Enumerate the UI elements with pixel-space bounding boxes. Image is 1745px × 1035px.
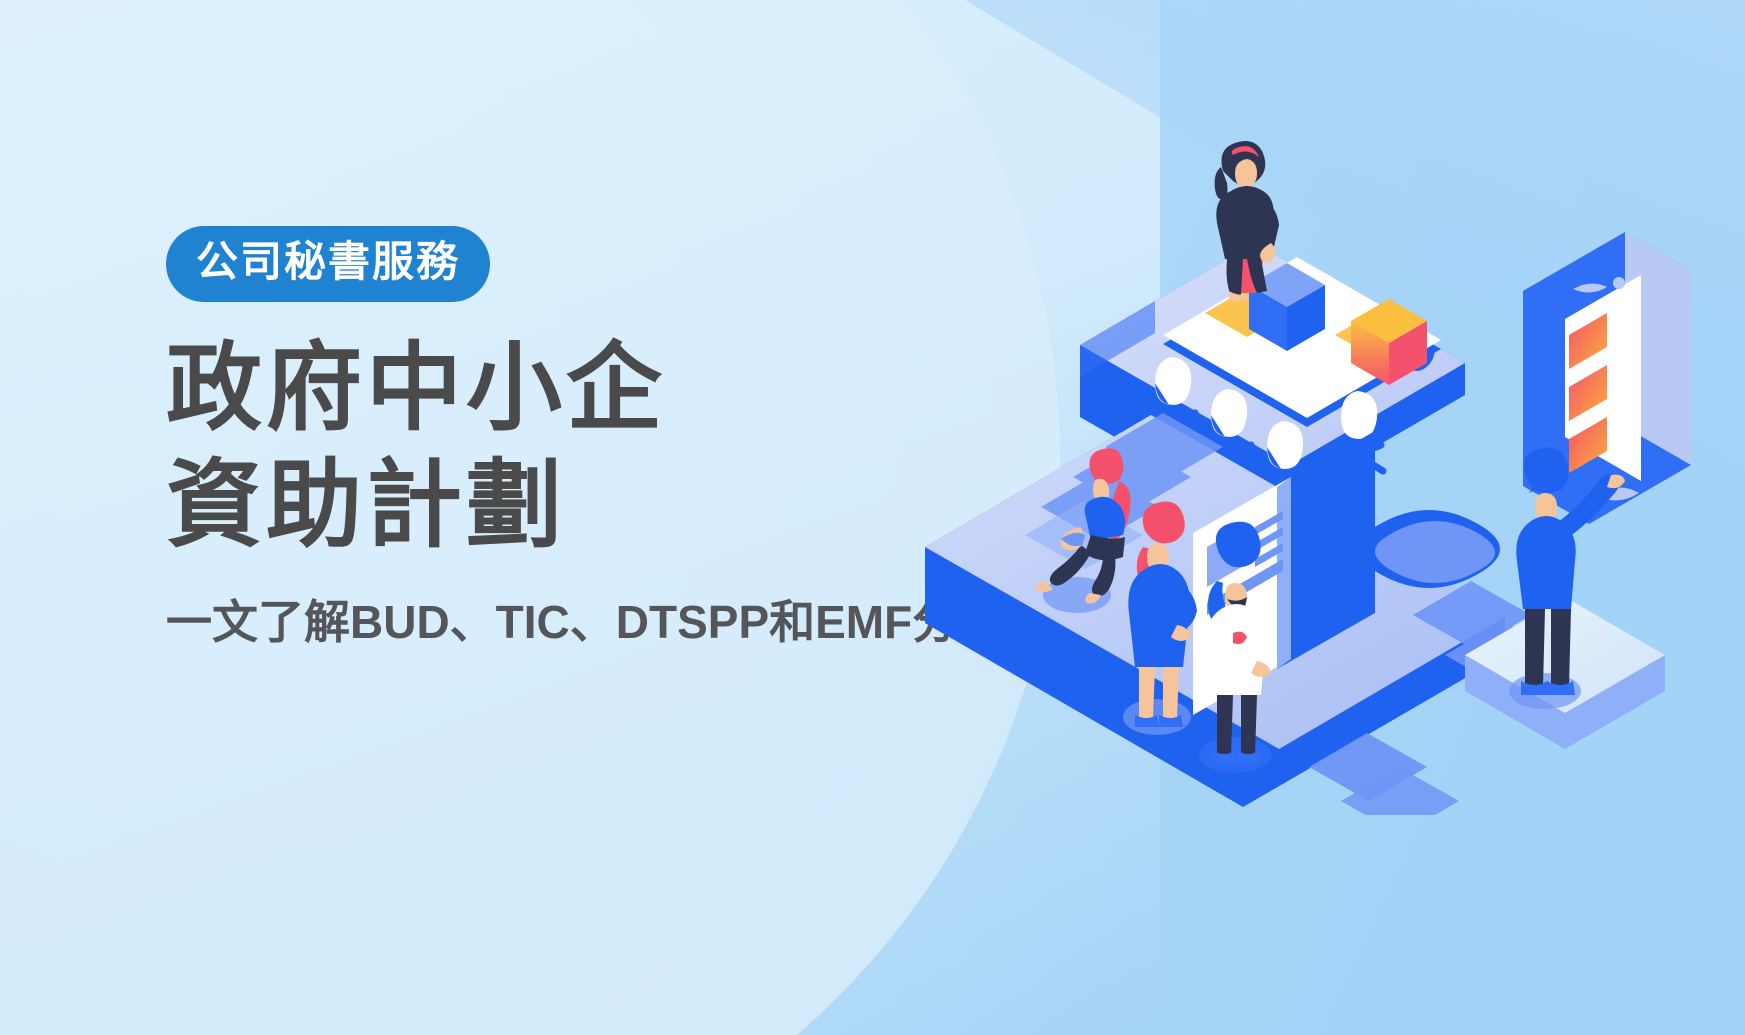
promo-banner: 公司秘書服務 政府中小企 資助計劃 一文了解BUD、TIC、DTSPP和EMF分… <box>0 0 1745 1035</box>
category-badge: 公司秘書服務 <box>166 226 490 302</box>
text-column: 公司秘書服務 政府中小企 資助計劃 一文了解BUD、TIC、DTSPP和EMF分… <box>166 226 1026 652</box>
phone-screen-cards <box>1569 313 1607 473</box>
page-title-line-1: 政府中小企 <box>166 330 1026 447</box>
isometric-illustration <box>905 95 1695 815</box>
page-title-line-2: 資助計劃 <box>166 447 1026 564</box>
page-title: 政府中小企 資助計劃 <box>166 330 1026 564</box>
page-subtitle: 一文了解BUD、TIC、DTSPP和EMF分別 <box>166 586 1026 652</box>
